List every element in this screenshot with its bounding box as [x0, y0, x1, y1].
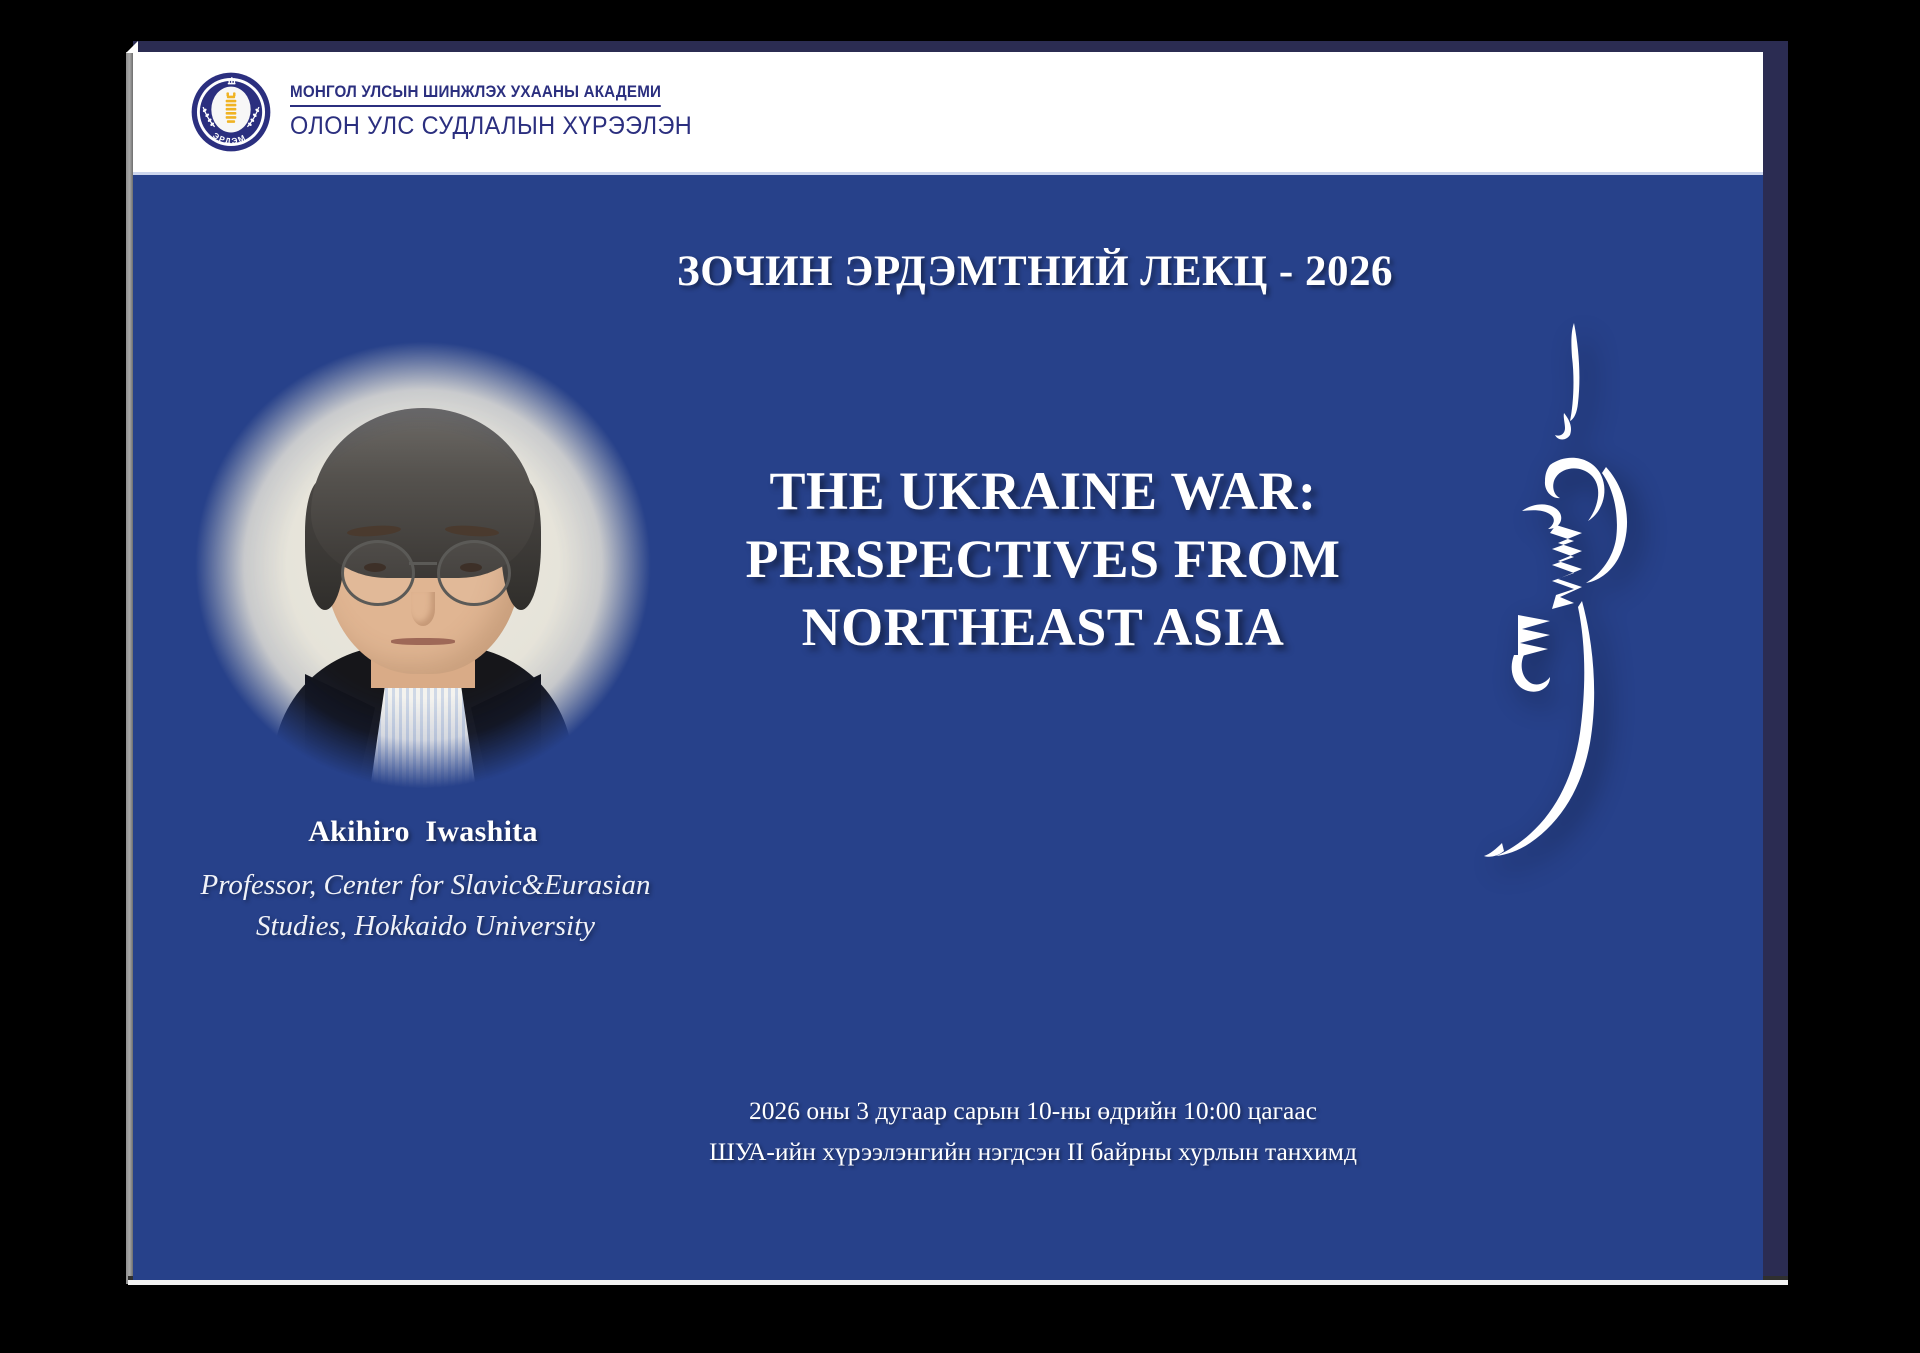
- poster-slide: ЭРДЭМ МОНГОЛ УЛСЫН ШИНЖЛЭХ УХААНЫ АКАДЕМ…: [133, 52, 1763, 1280]
- poster-body: ЗОЧИН ЭРДЭМТНИЙ ЛЕКЦ - 2026 THE UKRAINE …: [133, 175, 1763, 1280]
- slide-left-border: [126, 52, 133, 1284]
- event-venue: ШУА-ийн хүрээлэнгийн нэгдсэн II байрны х…: [583, 1131, 1483, 1172]
- speaker-photo-vignette: [173, 330, 673, 800]
- academy-emblem-icon: ЭРДЭМ: [190, 71, 272, 153]
- nose: [411, 592, 435, 626]
- header-branding: ЭРДЭМ МОНГОЛ УЛСЫН ШИНЖЛЭХ УХААНЫ АКАДЕМ…: [190, 71, 718, 153]
- academy-name: МОНГОЛ УЛСЫН ШИНЖЛЭХ УХААНЫ АКАДЕМИ: [290, 83, 661, 107]
- speaker-photo: [173, 330, 673, 800]
- lecture-title-line-1: THE UKRAINE WAR:: [673, 457, 1413, 525]
- eyeglasses-lens-right: [437, 540, 511, 606]
- speaker-affiliation-line-1: Professor, Center for Slavic&Eurasian: [153, 865, 698, 906]
- poster-header: ЭРДЭМ МОНГОЛ УЛСЫН ШИНЖЛЭХ УХААНЫ АКАДЕМ…: [133, 52, 1763, 175]
- mongolian-script-calligraphy-icon: [1478, 315, 1668, 935]
- lecture-title-line-2: PERSPECTIVES FROM: [673, 525, 1413, 593]
- speaker-affiliation-line-2: Studies, Hokkaido University: [153, 906, 698, 947]
- event-datetime: 2026 оны 3 дугаар сарын 10-ны өдрийн 10:…: [583, 1090, 1483, 1131]
- mouth: [391, 638, 455, 645]
- lecture-title: THE UKRAINE WAR: PERSPECTIVES FROM NORTH…: [673, 457, 1413, 661]
- speaker-affiliation: Professor, Center for Slavic&Eurasian St…: [153, 865, 698, 947]
- event-series-label: ЗОЧИН ЭРДЭМТНИЙ ЛЕКЦ - 2026: [625, 247, 1445, 296]
- eyeglasses-bridge: [409, 562, 437, 565]
- speaker-name: Akihiro Iwashita: [173, 815, 673, 849]
- lecture-title-line-3: NORTHEAST ASIA: [673, 593, 1413, 661]
- organization-names: МОНГОЛ УЛСЫН ШИНЖЛЭХ УХААНЫ АКАДЕМИ ОЛОН…: [290, 83, 718, 141]
- eyeglasses-lens-left: [341, 540, 415, 606]
- institute-name: ОЛОН УЛС СУДЛАЛЫН ХҮРЭЭЛЭН: [290, 112, 692, 141]
- event-details: 2026 оны 3 дугаар сарын 10-ны өдрийн 10:…: [583, 1090, 1483, 1173]
- poster-stage: ЭРДЭМ МОНГОЛ УЛСЫН ШИНЖЛЭХ УХААНЫ АКАДЕМ…: [0, 0, 1920, 1353]
- slide-right-border: [1761, 41, 1788, 1281]
